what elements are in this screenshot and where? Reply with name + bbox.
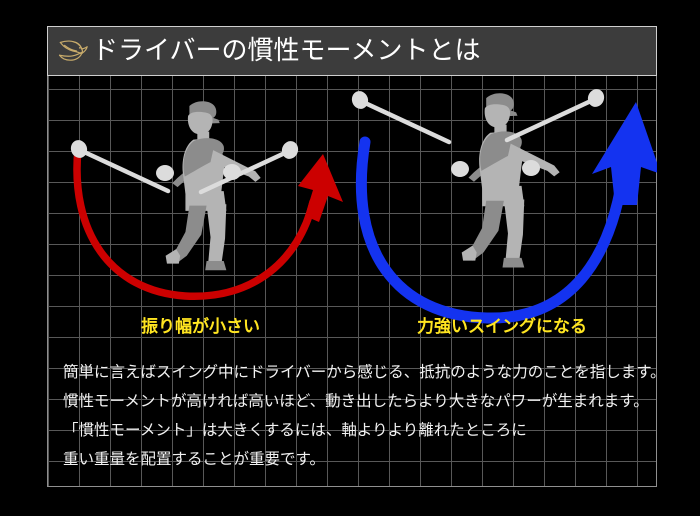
caption-powerful-swing: 力強いスイングになる: [417, 312, 587, 337]
body-line: 「慣性モーメント」は大きくするには、軸よりより離れたところに: [63, 416, 649, 445]
body-line: 簡単に言えばスイング中にドライバーから感じる、抵抗のような力のことを指します。: [63, 358, 649, 387]
body-line: 慣性モーメントが高ければ高いほど、動き出したらより大きなパワーが生まれます。: [63, 387, 649, 416]
caption-small-swing: 振り幅が小さい: [141, 312, 260, 337]
body-paragraph: 簡単に言えばスイング中にドライバーから感じる、抵抗のような力のことを指します。 …: [63, 358, 649, 474]
eagle-head-logo-icon: [56, 34, 90, 68]
body-line: 重い重量を配置することが重要です。: [63, 445, 649, 474]
slide-root: ドライバーの慣性モーメントとは 振り幅が小さい 力強いスイングになる 簡単に言え…: [0, 0, 700, 516]
title-bar: ドライバーの慣性モーメントとは: [47, 26, 657, 76]
page-title: ドライバーの慣性モーメントとは: [92, 38, 480, 64]
